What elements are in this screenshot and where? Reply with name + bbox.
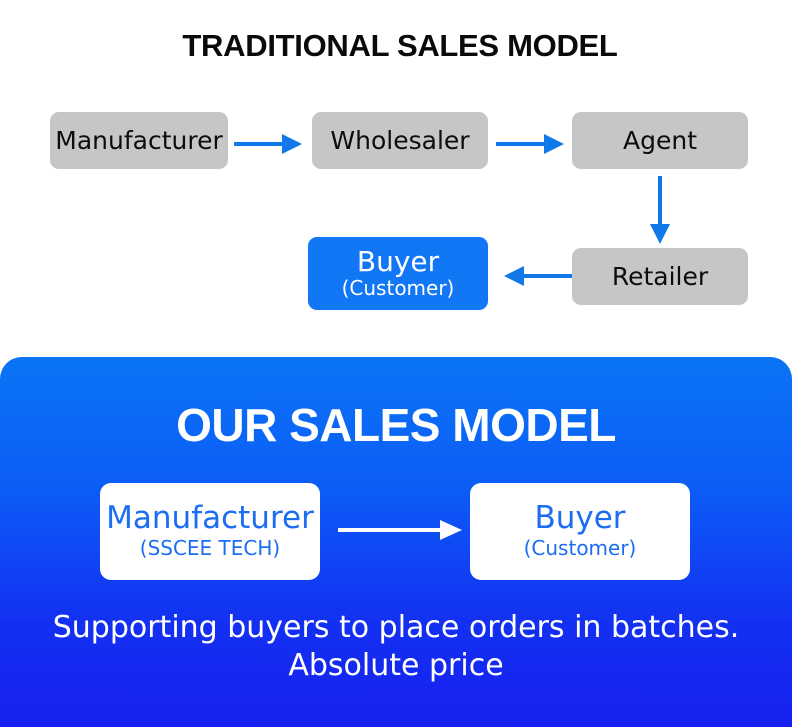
node-wholesaler: Wholesaler	[312, 112, 488, 169]
our-model-tagline-line-2: Absolute price	[8, 647, 784, 685]
node-manufacturer-sscee-primary-label: Manufacturer	[106, 503, 314, 534]
node-retailer: Retailer	[572, 248, 748, 305]
node-manufacturer-sscee-secondary-label: (SSCEE TECH)	[140, 536, 280, 560]
our-model-tagline-line-1: Supporting buyers to place orders in bat…	[8, 609, 784, 647]
node-agent: Agent	[572, 112, 748, 169]
node-buyer-our-secondary-label: (Customer)	[524, 536, 637, 560]
arrow-retailer-to-buyer	[496, 262, 574, 290]
node-buyer-traditional-secondary-label: (Customer)	[342, 277, 455, 300]
node-manufacturer-sscee: Manufacturer (SSCEE TECH)	[100, 483, 320, 580]
our-model-tagline: Supporting buyers to place orders in bat…	[0, 609, 792, 684]
node-buyer-traditional-primary-label: Buyer	[357, 248, 439, 276]
node-buyer-traditional: Buyer (Customer)	[308, 237, 488, 310]
arrow-manufacturer-to-buyer	[336, 515, 468, 545]
arrow-manufacturer-to-wholesaler	[232, 130, 308, 158]
node-buyer-our: Buyer (Customer)	[470, 483, 690, 580]
traditional-sales-model-section: TRADITIONAL SALES MODEL Manufacturer Who…	[0, 0, 800, 357]
our-sales-model-section: OUR SALES MODEL Manufacturer (SSCEE TECH…	[0, 357, 792, 727]
traditional-model-title: TRADITIONAL SALES MODEL	[0, 28, 800, 64]
our-model-title: OUR SALES MODEL	[0, 398, 792, 452]
arrow-wholesaler-to-agent	[494, 130, 570, 158]
arrow-agent-to-retailer	[646, 174, 674, 248]
node-manufacturer: Manufacturer	[50, 112, 228, 169]
node-buyer-our-primary-label: Buyer	[534, 503, 625, 534]
